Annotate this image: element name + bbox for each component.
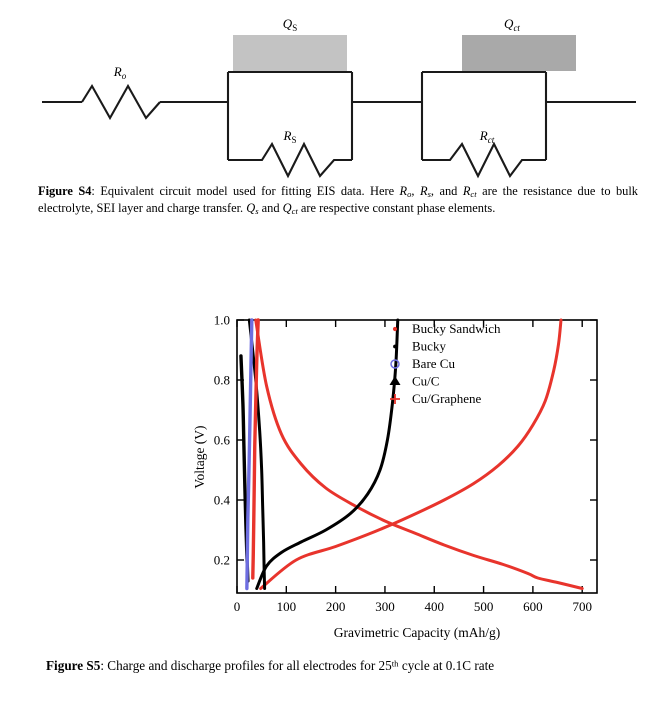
legend-marker-dot [393, 345, 397, 349]
caption-s5-seg2: cycle at 0.1C rate [399, 658, 495, 673]
cpe-box-qct [462, 35, 576, 71]
caption-inline-qs: Qs [246, 201, 258, 215]
label-qs: QS [283, 16, 297, 33]
x-tick-label: 100 [277, 599, 297, 614]
caption-s4-seg6: are respective constant phase elements. [298, 201, 495, 215]
legend-label: Cu/Graphene [412, 391, 482, 406]
x-tick-label: 200 [326, 599, 346, 614]
legend-label: Bare Cu [412, 356, 455, 371]
resistor-ro-zigzag [82, 86, 160, 118]
document-page: Ro QS RS Qct Rct Figure S4: Equivalent c… [0, 0, 666, 704]
resistor-rct-zigzag [422, 144, 546, 176]
caption-inline-ro: Ro [400, 184, 412, 198]
x-axis-title: Gravimetric Capacity (mAh/g) [334, 625, 500, 640]
legend-label: Bucky [412, 339, 446, 354]
resistor-rs-zigzag [228, 144, 352, 176]
label-rs: RS [283, 128, 297, 145]
label-ro: Ro [113, 64, 127, 81]
chart-legend: Bucky SandwichBuckyBare CuCu/CCu/Graphen… [390, 321, 501, 406]
figure-s4-caption: Figure S4: Equivalent circuit model used… [38, 183, 638, 218]
figure-s5-label: Figure S5 [46, 658, 100, 673]
y-tick-label: 0.4 [214, 493, 231, 508]
caption-inline-qct: Qct [283, 201, 298, 215]
caption-s4-seg5: and [259, 201, 283, 215]
series-curve [261, 320, 561, 589]
figure-s4-circuit-diagram: Ro QS RS Qct Rct [0, 0, 666, 185]
x-tick-label: 0 [234, 599, 241, 614]
caption-s5-seg1: : Charge and discharge profiles for all … [100, 658, 391, 673]
label-rct: Rct [479, 128, 495, 145]
y-axis-title: Voltage (V) [192, 425, 207, 488]
y-tick-label: 0.6 [214, 433, 231, 448]
circuit-svg: Ro QS RS Qct Rct [0, 0, 666, 185]
cpe-box-qs [233, 35, 347, 71]
x-tick-label: 600 [523, 599, 543, 614]
x-tick-label: 300 [375, 599, 395, 614]
figure-s5-chart: 01002003004005006007000.20.40.60.81.0 Gr… [190, 300, 650, 650]
x-tick-label: 700 [572, 599, 592, 614]
x-tick-label: 500 [474, 599, 494, 614]
y-tick-label: 0.8 [214, 373, 230, 388]
caption-s4-seg2: , [411, 184, 420, 198]
figure-s4-label: Figure S4 [38, 184, 91, 198]
caption-inline-rs: Rs [420, 184, 431, 198]
legend-marker-triangle [390, 376, 401, 385]
legend-marker-dot [393, 327, 397, 331]
y-tick-label: 1.0 [214, 313, 230, 328]
x-tick-label: 400 [425, 599, 445, 614]
chart-svg: 01002003004005006007000.20.40.60.81.0 Gr… [190, 300, 650, 650]
caption-s4-seg1: : Equivalent circuit model used for fitt… [91, 184, 399, 198]
legend-label: Cu/C [412, 374, 439, 389]
label-qct: Qct [504, 16, 520, 33]
caption-s4-seg3: , and [431, 184, 463, 198]
caption-inline-rct: Rct [463, 184, 477, 198]
y-tick-label: 0.2 [214, 553, 230, 568]
figure-s5-caption: Figure S5: Charge and discharge profiles… [46, 657, 630, 675]
caption-s5-sup: th [392, 658, 399, 668]
legend-label: Bucky Sandwich [412, 321, 501, 336]
series-curve [247, 320, 252, 589]
axis-tick-labels: 01002003004005006007000.20.40.60.81.0 [214, 313, 592, 615]
